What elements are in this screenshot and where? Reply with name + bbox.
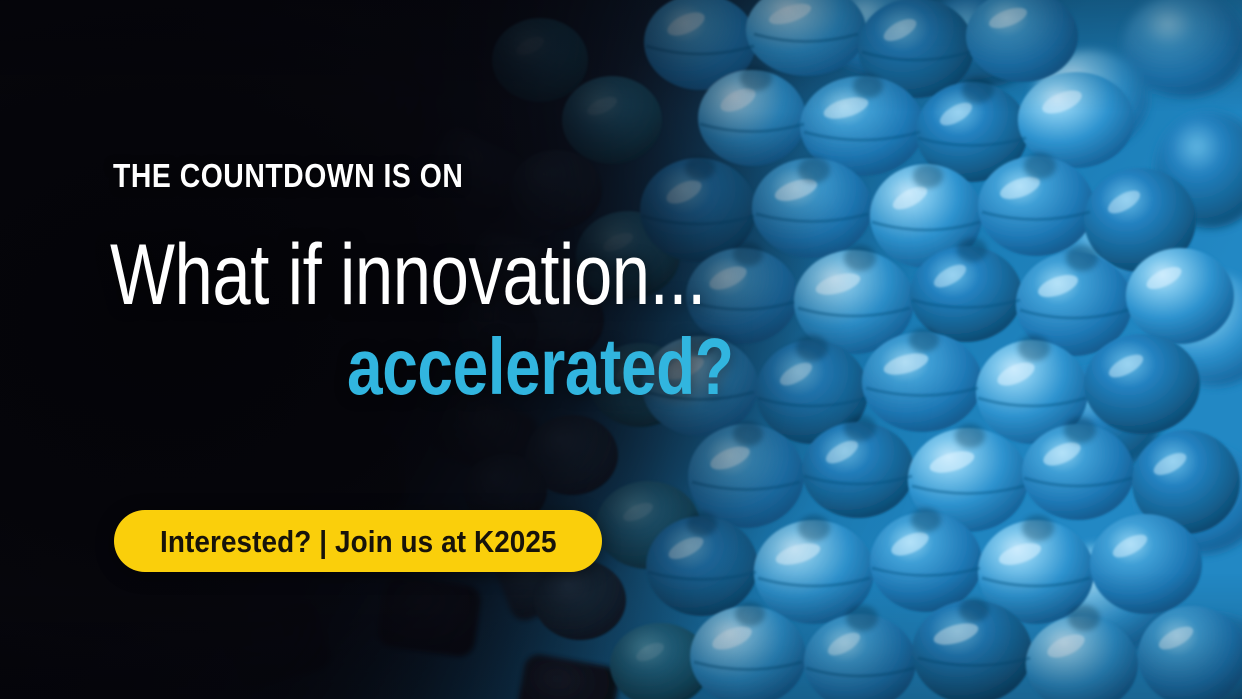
headline-line-1: What if innovation... [110,232,706,318]
headline-line-2-accent: accelerated? [347,327,734,407]
cta-button-label: Interested? | Join us at K2025 [160,526,557,557]
banner-content: THE COUNTDOWN IS ON What if innovation..… [113,0,873,699]
cta-button-join-us[interactable]: Interested? | Join us at K2025 [114,510,602,572]
promo-banner: THE COUNTDOWN IS ON What if innovation..… [0,0,1242,699]
eyebrow-text: THE COUNTDOWN IS ON [113,159,463,192]
